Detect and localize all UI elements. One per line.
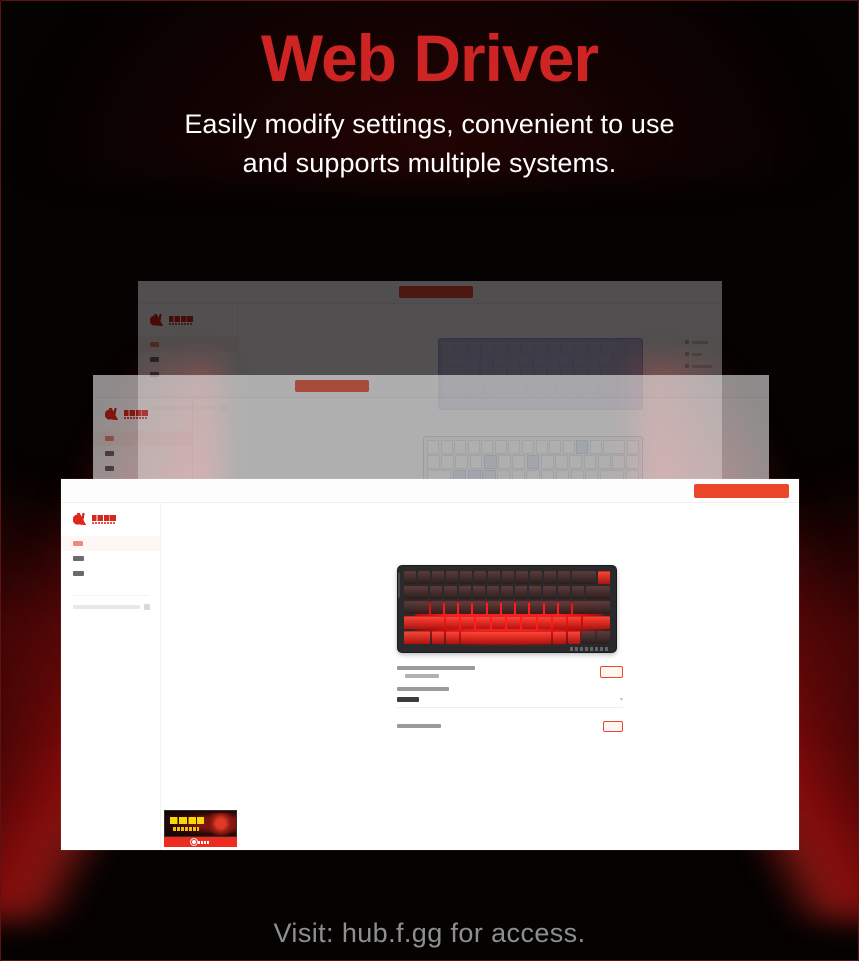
- ad-cta-label: [198, 841, 210, 844]
- sidebar-item[interactable]: [93, 431, 192, 446]
- sidebar-item[interactable]: [138, 352, 237, 367]
- logo-wordmark: [124, 410, 148, 419]
- ad-cta-button[interactable]: [164, 837, 237, 847]
- nav-download-button[interactable]: [694, 484, 789, 498]
- search-icon[interactable]: [144, 604, 150, 610]
- sidebar-item[interactable]: [93, 461, 192, 476]
- device-form: ▾: [397, 666, 623, 732]
- logo-mark-icon: [150, 314, 166, 326]
- nav-item-products[interactable]: [161, 485, 266, 497]
- reset-button[interactable]: [603, 721, 623, 733]
- sidebar-item[interactable]: [93, 446, 192, 461]
- nav-item[interactable]: [238, 286, 316, 298]
- sidebar-list: [61, 536, 160, 581]
- nav-item-support[interactable]: [266, 485, 371, 497]
- logo-wordmark: [92, 515, 116, 524]
- chevron-down-icon[interactable]: ▾: [620, 697, 623, 703]
- ad-artwork[interactable]: [164, 810, 237, 837]
- window-navbar: [93, 375, 769, 398]
- reset-row: [397, 721, 623, 733]
- nav-item[interactable]: [634, 286, 712, 298]
- sidebar-list: [93, 431, 192, 476]
- subtitle-line-1: Easily modify settings, convenient to us…: [0, 105, 859, 144]
- nav-item-active[interactable]: [295, 380, 369, 392]
- reset-label: [397, 724, 441, 728]
- brand-logo: [61, 509, 160, 532]
- ad-subline: [173, 827, 199, 831]
- nav-item[interactable]: [471, 380, 567, 392]
- nav-item[interactable]: [316, 286, 394, 298]
- driver-window-device-view: ▾: [61, 479, 799, 850]
- sidebar-item[interactable]: [138, 337, 237, 352]
- subtitle-line-2: and supports multiple systems.: [0, 144, 859, 183]
- nav-item[interactable]: [193, 380, 289, 392]
- gear-icon: [192, 840, 196, 844]
- profile-select[interactable]: ▾: [397, 697, 623, 708]
- promo-banner: Web Driver Easily modify settings, conve…: [0, 0, 859, 961]
- logo-mark-icon: [73, 513, 89, 525]
- nav-items: [161, 485, 686, 497]
- headline-block: Web Driver Easily modify settings, conve…: [0, 24, 859, 184]
- nav-item[interactable]: [567, 380, 663, 392]
- profile-row: ▾: [397, 687, 623, 708]
- product-keyboard-image[interactable]: [397, 565, 617, 653]
- nav-item-active[interactable]: [399, 286, 473, 298]
- footer-text: Visit: hub.f.gg for access.: [0, 918, 859, 949]
- brand-logo: [138, 310, 237, 333]
- search-input[interactable]: [73, 605, 140, 609]
- logo-wordmark: [169, 316, 193, 325]
- sidebar-item-keyboard[interactable]: [61, 536, 160, 551]
- nav-item[interactable]: [479, 286, 557, 298]
- window-navbar: [138, 281, 722, 304]
- nav-item[interactable]: [375, 380, 471, 392]
- firmware-update-button[interactable]: [600, 666, 623, 678]
- nav-item[interactable]: [663, 380, 759, 392]
- profile-label: [397, 687, 449, 691]
- nav-items: [238, 286, 712, 298]
- nav-item[interactable]: [557, 286, 635, 298]
- ad-headline: [170, 817, 204, 824]
- profile-value: [397, 697, 419, 702]
- firmware-label: [397, 666, 475, 670]
- sidebar-item-mouse[interactable]: [61, 551, 160, 566]
- page-title: Web Driver: [0, 24, 859, 93]
- window-main: ▾: [161, 503, 799, 850]
- logo-mark-icon: [105, 408, 121, 420]
- brand-logo: [93, 404, 192, 427]
- ad-banner[interactable]: [164, 810, 237, 847]
- legend-panel: [685, 340, 712, 368]
- keyboard-keys: [404, 571, 610, 644]
- nav-item-news[interactable]: [476, 485, 581, 497]
- nav-item-about[interactable]: [581, 485, 686, 497]
- ad-character-art: [210, 813, 234, 836]
- firmware-row: [397, 666, 623, 678]
- page-subtitle: Easily modify settings, convenient to us…: [0, 105, 859, 183]
- sidebar-search[interactable]: [73, 595, 150, 610]
- nav-items: [193, 380, 759, 392]
- nav-item-drivers[interactable]: [371, 485, 476, 497]
- window-navbar: [61, 479, 799, 503]
- product-brand-mark: [570, 647, 608, 651]
- window-sidebar: [61, 503, 161, 850]
- sidebar-item-headset[interactable]: [61, 566, 160, 581]
- firmware-sublabel: [405, 674, 439, 678]
- window-body: ▾: [61, 503, 799, 850]
